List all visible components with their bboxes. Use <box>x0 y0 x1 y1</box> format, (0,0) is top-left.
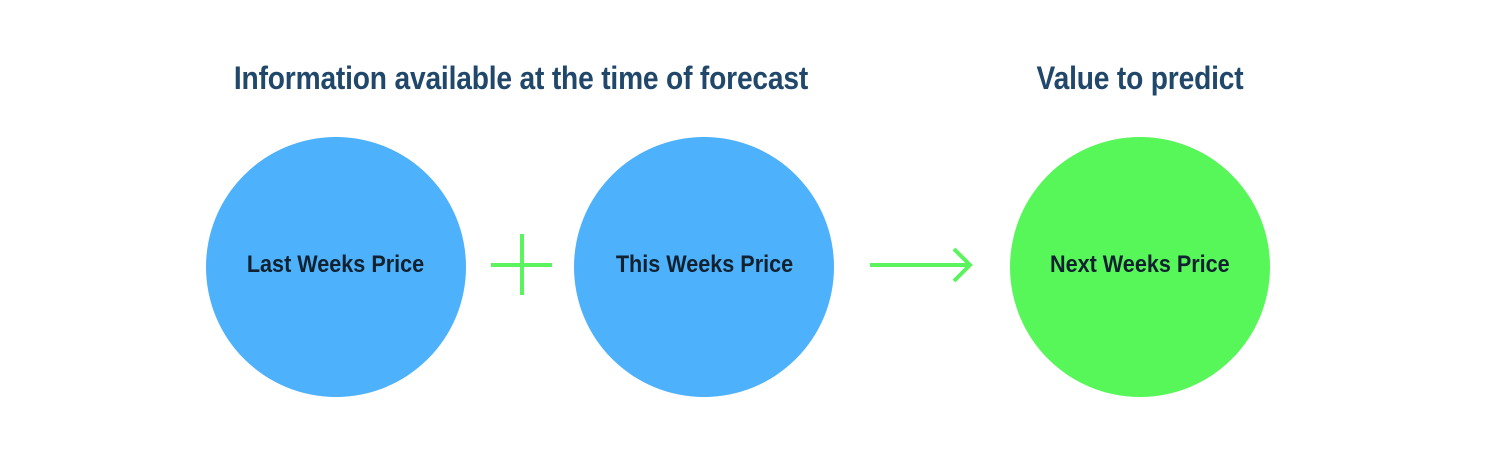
plus-vertical-bar <box>520 234 524 295</box>
diagram-canvas: Information available at the time of for… <box>0 0 1510 460</box>
node-label-next-weeks-price: Next Weeks Price <box>1050 252 1230 278</box>
node-label-last-weeks-price: Last Weeks Price <box>247 252 424 278</box>
heading-value-to-predict: Value to predict <box>1004 61 1277 95</box>
right-arrow-icon: → <box>868 240 978 290</box>
node-this-weeks-price[interactable]: This Weeks Price <box>574 137 834 397</box>
heading-information-available: Information available at the time of for… <box>191 61 851 95</box>
right-arrow-glyph: → <box>868 290 869 291</box>
plus-operator-glyph: + <box>491 234 492 235</box>
node-next-weeks-price[interactable]: Next Weeks Price <box>1010 137 1270 397</box>
plus-operator-icon: + <box>491 234 552 295</box>
node-last-weeks-price[interactable]: Last Weeks Price <box>206 137 466 397</box>
node-label-this-weeks-price: This Weeks Price <box>615 252 792 278</box>
